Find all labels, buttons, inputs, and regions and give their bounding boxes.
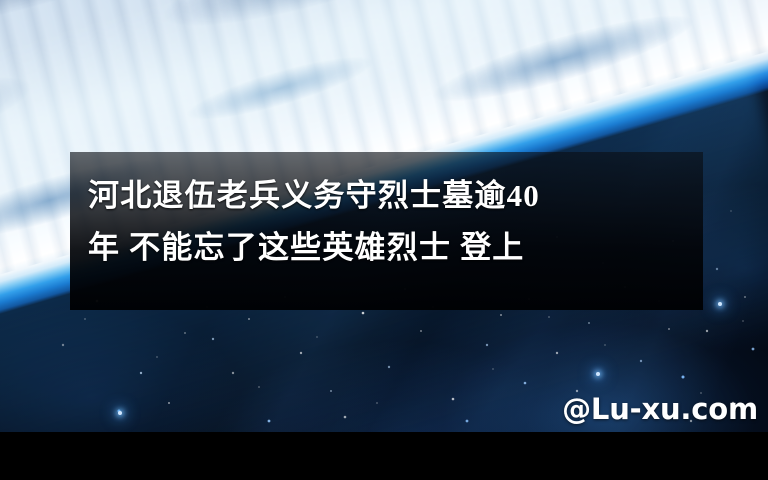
letterbox-bar <box>0 432 768 480</box>
space-photo: 河北退伍老兵义务守烈士墓逾40 年 不能忘了这些英雄烈士 登上 @Lu-xu.c… <box>0 0 768 432</box>
title-overlay-panel: 河北退伍老兵义务守烈士墓逾40 年 不能忘了这些英雄烈士 登上 <box>70 152 703 310</box>
title-line-1: 河北退伍老兵义务守烈士墓逾40 <box>88 170 687 222</box>
watermark-text: @Lu-xu.com <box>562 392 758 426</box>
title-line-2: 年 不能忘了这些英雄烈士 登上 <box>88 222 687 274</box>
bright-star-icon <box>596 372 600 376</box>
screenshot-stage: 河北退伍老兵义务守烈士墓逾40 年 不能忘了这些英雄烈士 登上 @Lu-xu.c… <box>0 0 768 480</box>
bright-star-icon <box>718 302 722 306</box>
bright-star-icon <box>118 411 122 415</box>
